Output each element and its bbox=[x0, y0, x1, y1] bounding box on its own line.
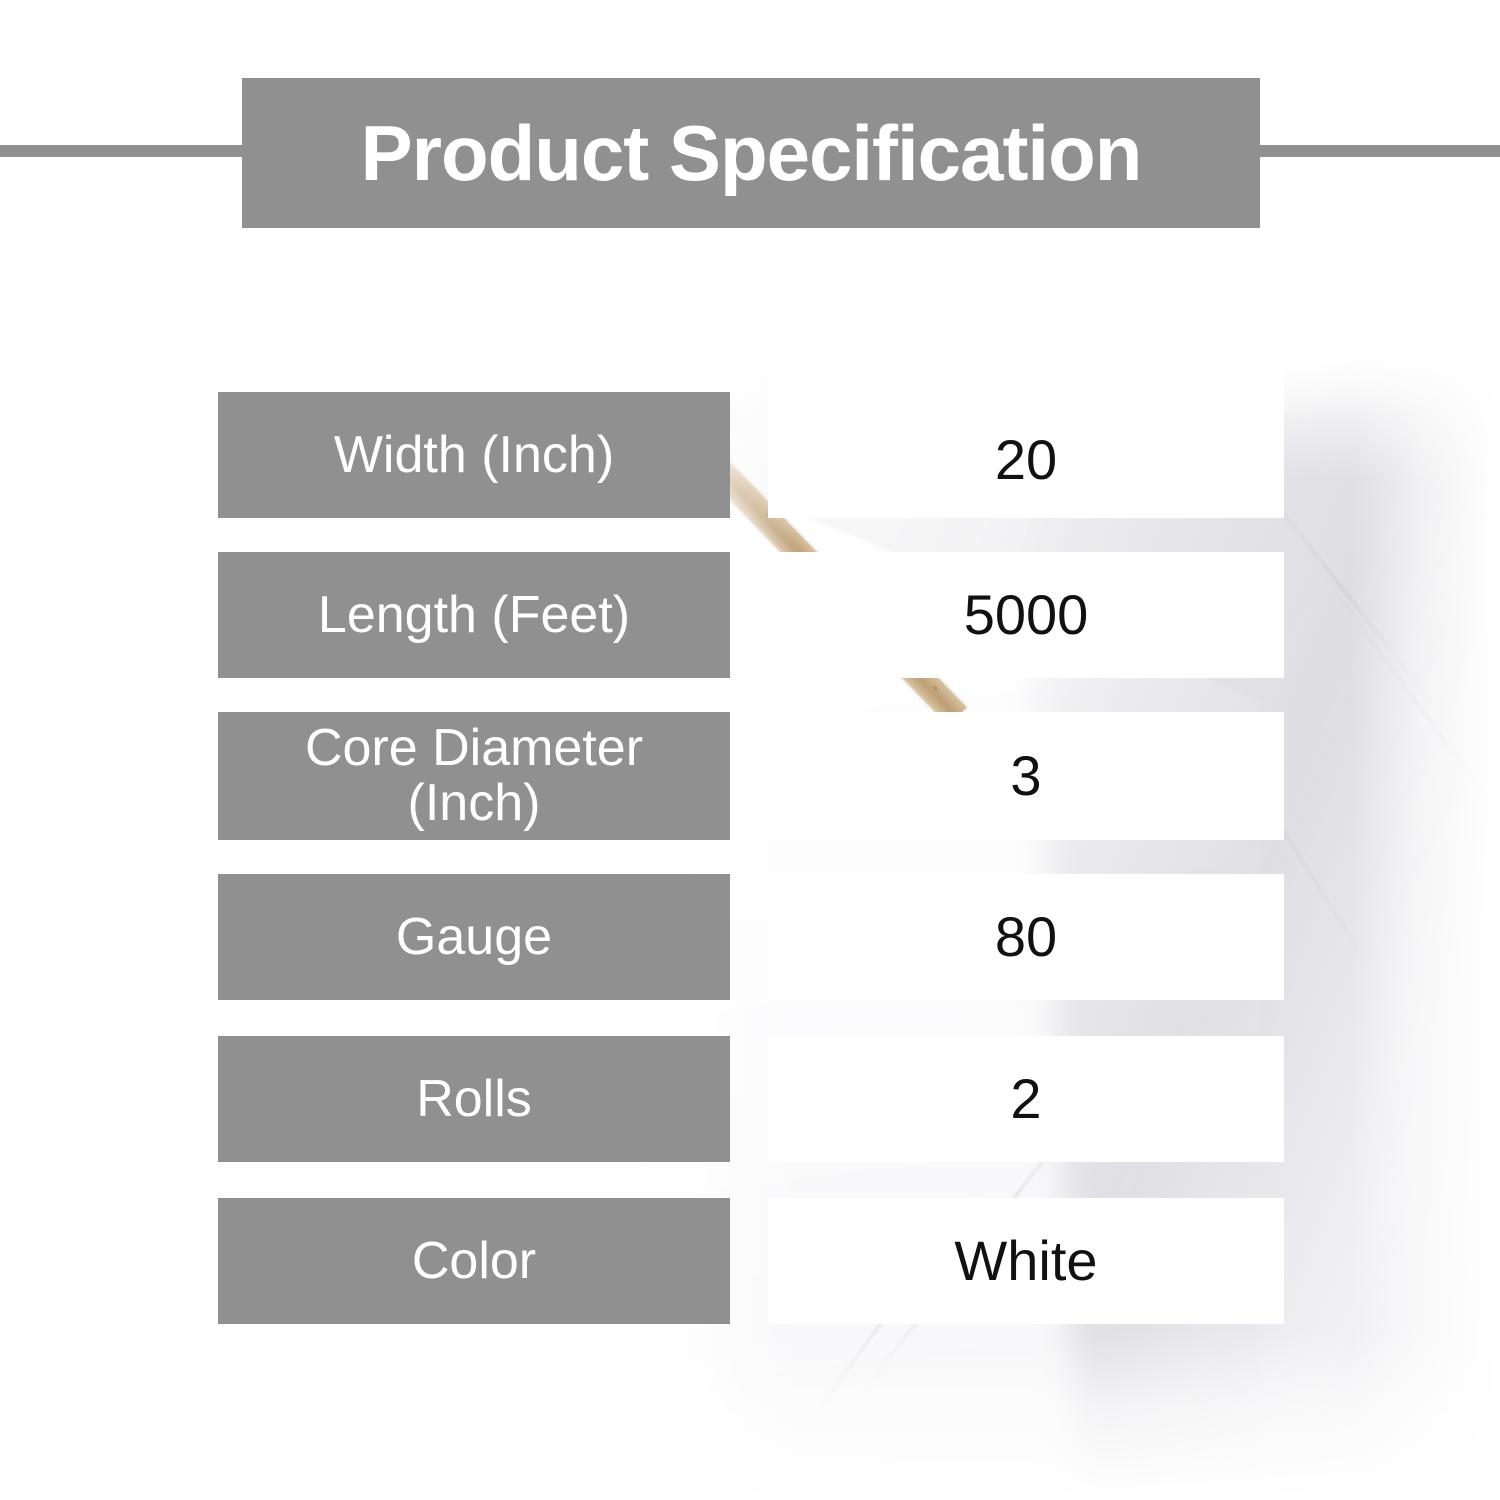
table-row: Gauge 80 bbox=[0, 874, 1500, 1000]
table-row: Rolls 2 bbox=[0, 1036, 1500, 1162]
table-row: Width (Inch) 20 bbox=[0, 392, 1500, 518]
spec-value-cell: 2 bbox=[768, 1036, 1284, 1162]
spec-label-cell: Core Diameter (Inch) bbox=[218, 712, 730, 840]
table-row: Core Diameter (Inch) 3 bbox=[0, 712, 1500, 840]
table-row: Length (Feet) 5000 bbox=[0, 552, 1500, 678]
spec-label-cell: Length (Feet) bbox=[218, 552, 730, 678]
spec-value-text: 3 bbox=[1010, 748, 1041, 804]
table-row: Color White bbox=[0, 1198, 1500, 1324]
spec-value-text: White bbox=[954, 1233, 1097, 1289]
spec-label-cell: Rolls bbox=[218, 1036, 730, 1162]
spec-label-text: Rolls bbox=[416, 1072, 532, 1127]
spec-label-text: Core Diameter (Inch) bbox=[305, 721, 643, 830]
spec-value-text: 20 bbox=[995, 432, 1057, 488]
spec-value-text: 5000 bbox=[964, 587, 1089, 643]
spec-value-cell: 20 bbox=[768, 302, 1284, 518]
spec-label-text: Length (Feet) bbox=[318, 588, 630, 643]
spec-value-cell: 5000 bbox=[768, 552, 1284, 678]
spec-value-cell: 3 bbox=[768, 712, 1284, 840]
spec-label-cell: Gauge bbox=[218, 874, 730, 1000]
spec-label-text: Gauge bbox=[396, 910, 552, 965]
product-specification-page: Product Specification Width (Inch) 20 Le… bbox=[0, 0, 1500, 1500]
spec-value-cell: White bbox=[768, 1198, 1284, 1324]
spec-label-cell: Width (Inch) bbox=[218, 392, 730, 518]
spec-label-cell: Color bbox=[218, 1198, 730, 1324]
spec-value-text: 2 bbox=[1010, 1071, 1041, 1127]
spec-label-text: Width (Inch) bbox=[334, 428, 614, 483]
spec-value-text: 80 bbox=[995, 909, 1057, 965]
specification-table: Width (Inch) 20 Length (Feet) 5000 Core … bbox=[0, 0, 1500, 1500]
spec-label-text: Color bbox=[412, 1234, 536, 1289]
spec-value-cell: 80 bbox=[768, 874, 1284, 1000]
